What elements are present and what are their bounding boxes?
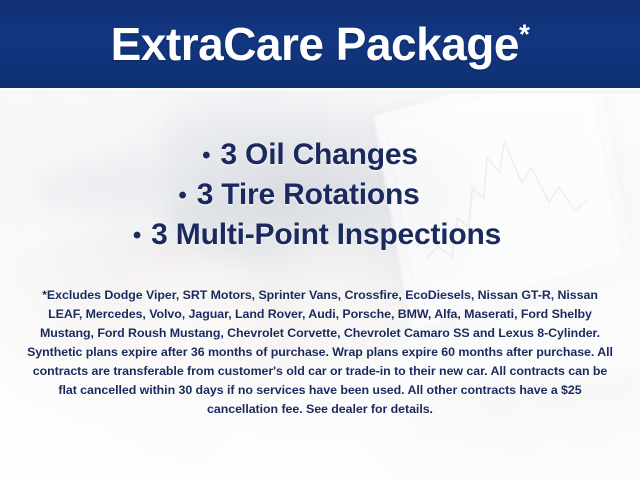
benefits-list: • 3 Oil Changes • 3 Tire Rotations • 3 M…: [0, 135, 640, 255]
bullet-dot-icon: •: [133, 222, 141, 249]
benefit-label: 3 Multi-Point Inspections: [151, 218, 501, 251]
extracare-package-ad: ExtraCare Package* • 3 Oil Changes • 3 T…: [0, 0, 640, 480]
bullet-dot-icon: •: [178, 182, 186, 209]
benefit-label: 3 Oil Changes: [220, 138, 417, 171]
list-item: • 3 Multi-Point Inspections: [0, 215, 640, 255]
bullet-dot-icon: •: [202, 142, 210, 169]
disclaimer-text: *Excludes Dodge Viper, SRT Motors, Sprin…: [26, 286, 614, 419]
list-item: • 3 Oil Changes: [0, 135, 640, 175]
page-title: ExtraCare Package*: [111, 21, 530, 67]
list-item: • 3 Tire Rotations: [0, 175, 640, 215]
benefit-label: 3 Tire Rotations: [197, 178, 420, 211]
header-banner: ExtraCare Package*: [0, 0, 640, 88]
title-asterisk: *: [519, 19, 529, 50]
page-title-text: ExtraCare Package: [111, 18, 519, 70]
banner-underline: [0, 88, 640, 93]
